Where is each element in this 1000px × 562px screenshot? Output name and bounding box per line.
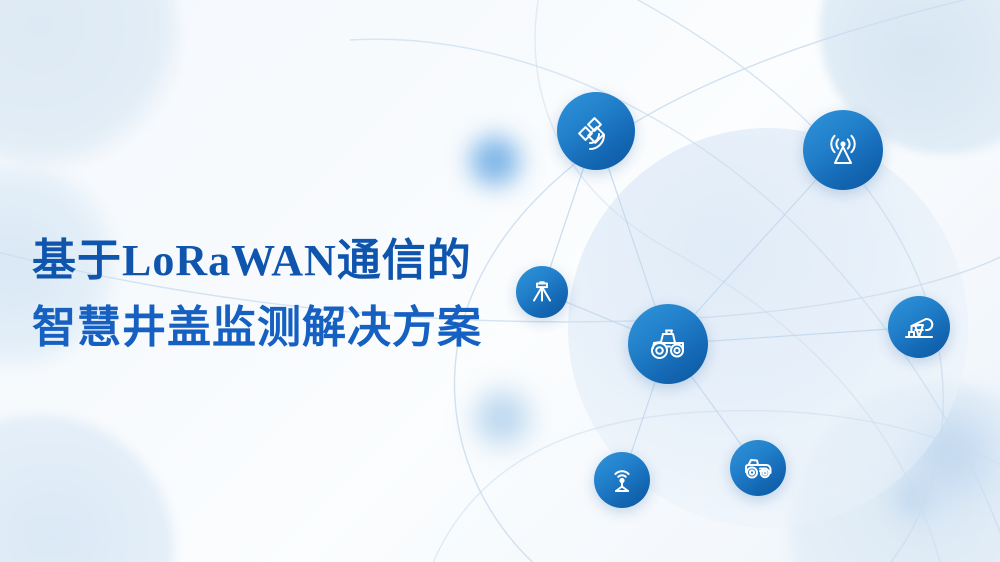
node-wireless-sensor[interactable] bbox=[594, 452, 650, 508]
node-tractor[interactable] bbox=[628, 304, 708, 384]
tractor-icon bbox=[646, 322, 690, 366]
wireless-sensor-icon bbox=[607, 465, 637, 495]
oil-pumpjack-icon bbox=[902, 310, 936, 344]
harvester-vehicle-icon bbox=[742, 452, 774, 484]
node-harvester-vehicle[interactable] bbox=[730, 440, 786, 496]
background-glow-dot-lower bbox=[466, 382, 538, 454]
background-blob-top-left bbox=[0, 0, 182, 168]
cover-slide: 基于LoRaWAN通信的 智慧井盖监测解决方案 bbox=[0, 0, 1000, 562]
node-radio-tower[interactable] bbox=[803, 110, 883, 190]
background-glow-dot-right bbox=[884, 470, 942, 528]
page-title-line-1: 基于LoRaWAN通信的 bbox=[32, 228, 572, 295]
background-glow-dot-upper bbox=[462, 128, 528, 194]
slide-title-block: 基于LoRaWAN通信的 智慧井盖监测解决方案 bbox=[32, 228, 572, 362]
satellite-dish-icon bbox=[576, 111, 616, 151]
node-satellite[interactable] bbox=[557, 92, 635, 170]
page-title-line-2: 智慧井盖监测解决方案 bbox=[32, 295, 572, 362]
background-glow-bottom-right bbox=[890, 394, 1000, 514]
radio-tower-icon bbox=[822, 129, 864, 171]
background-blob-bottom-right bbox=[790, 382, 1000, 562]
node-oil-pumpjack[interactable] bbox=[888, 296, 950, 358]
background-blob-bottom-left bbox=[0, 415, 174, 562]
